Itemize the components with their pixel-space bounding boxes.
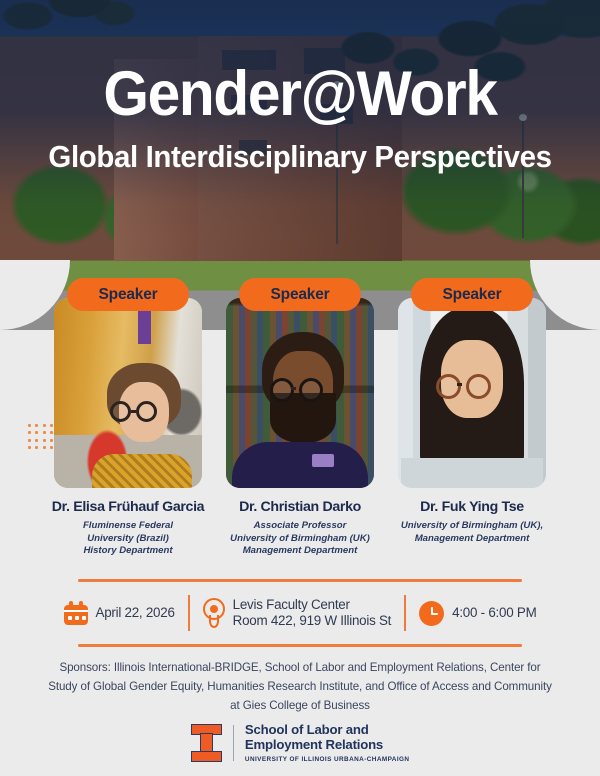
eyeglasses-icon [436,374,491,399]
logo-wordmark: School of Labor and Employment Relations… [245,722,410,763]
clock-icon [419,601,444,626]
avatar [398,298,546,488]
institution-logo: School of Labor and Employment Relations… [0,722,600,763]
page-subtitle: Global Interdisciplinary Perspectives [15,139,585,175]
speaker-name: Dr. Christian Darko [204,499,396,515]
speaker-card: Speaker Dr. Christian Darko Associate Pr… [224,278,376,558]
avatar [54,298,202,488]
sponsors-text: Sponsors: Illinois International-BRIDGE,… [46,659,554,715]
speaker-card: Speaker Dr. Fuk Ying Tse University of B… [396,278,548,545]
event-location-text: Levis Faculty Center Room 422, 919 W Ill… [233,597,391,630]
speaker-affiliation: University of Birmingham (UK), Managemen… [368,520,576,545]
eyeglasses-icon [270,378,323,402]
page-title: Gender@Work [21,62,579,127]
speaker-name: Dr. Elisa Frühauf Garcia [28,499,228,515]
status-badge: Speaker [239,278,361,311]
logo-divider [233,725,234,761]
event-location: Levis Faculty Center Room 422, 919 W Ill… [190,597,404,630]
speaker-name: Dr. Fuk Ying Tse [376,499,568,515]
event-time-text: 4:00 - 6:00 PM [452,605,536,621]
event-poster: Gender@Work Global Interdisciplinary Per… [0,0,600,776]
speakers-section: Speaker Dr. Elisa Frühauf Garcia Flumine… [0,278,600,568]
logo-line-3: UNIVERSITY OF ILLINOIS URBANA-CHAMPAIGN [245,756,410,763]
event-date: April 22, 2026 [51,601,188,625]
avatar [226,298,374,488]
status-badge: Speaker [67,278,189,311]
eyeglasses-icon [110,401,157,422]
event-time: 4:00 - 6:00 PM [406,601,549,626]
logo-line-2: Employment Relations [245,737,410,752]
divider-bottom [78,644,522,647]
divider-top [78,579,522,582]
logo-line-1: School of Labor and [245,722,410,737]
title-block: Gender@Work Global Interdisciplinary Per… [0,62,600,175]
calendar-icon [64,601,88,625]
illinois-block-i-icon [191,724,222,762]
event-details-bar: April 22, 2026 Levis Faculty Center Room… [0,590,600,636]
speaker-card: Speaker Dr. Elisa Frühauf Garcia Flumine… [52,278,204,558]
status-badge: Speaker [411,278,533,311]
event-date-text: April 22, 2026 [96,605,175,621]
map-pin-icon [203,598,225,628]
speaker-affiliation: Fluminense Federal University (Brazil) H… [38,520,218,558]
